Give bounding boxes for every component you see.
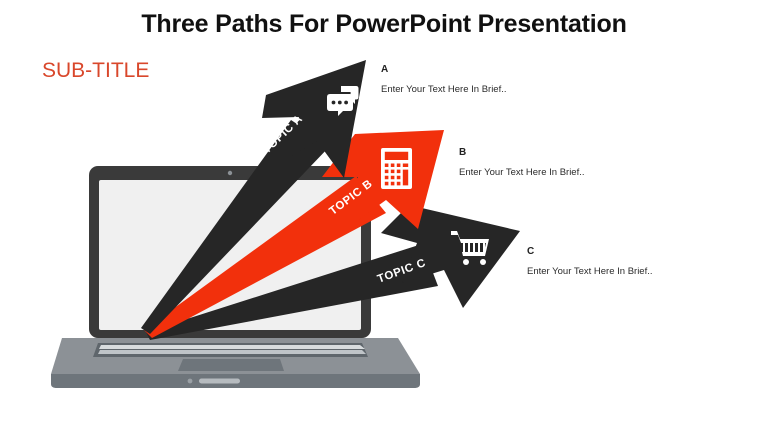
description-block-c: C Enter Your Text Here In Brief..	[527, 247, 653, 277]
laptop-keyboard-row-1	[99, 345, 365, 349]
description-text-a: Enter Your Text Here In Brief..	[381, 84, 507, 95]
laptop-latch	[199, 379, 240, 384]
description-block-a: A Enter Your Text Here In Brief..	[381, 65, 507, 95]
laptop-webcam-dot	[228, 171, 232, 175]
description-letter-c: C	[527, 247, 653, 257]
slide-canvas: Three Paths For PowerPoint Presentation …	[0, 0, 768, 432]
laptop-indicator-light	[188, 379, 193, 384]
description-letter-b: B	[459, 148, 585, 158]
description-text-b: Enter Your Text Here In Brief..	[459, 167, 585, 178]
laptop-trackpad	[178, 359, 284, 371]
description-block-b: B Enter Your Text Here In Brief..	[459, 148, 585, 178]
laptop-keyboard-row-2	[98, 350, 366, 354]
description-text-c: Enter Your Text Here In Brief..	[527, 266, 653, 277]
description-letter-a: A	[381, 65, 507, 75]
